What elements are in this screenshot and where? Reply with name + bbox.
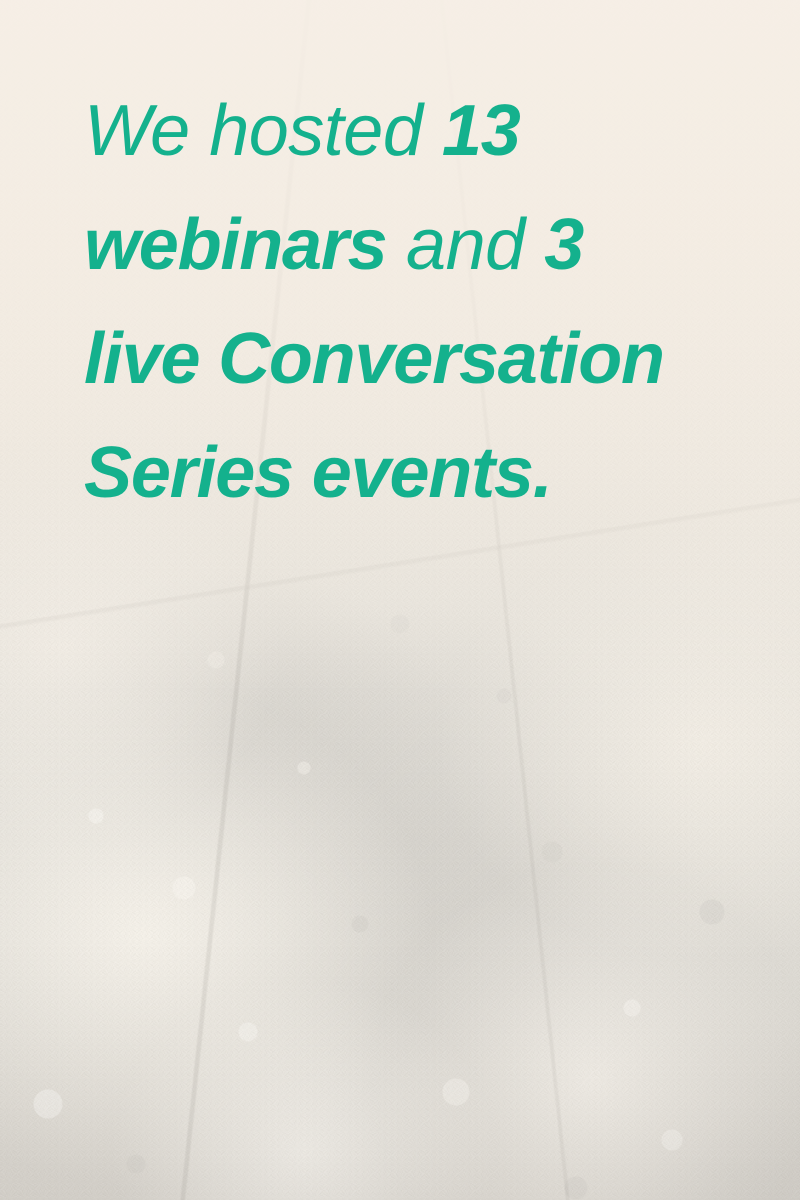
headline-stat-webinar-count: 13 (442, 91, 520, 171)
headline-conjunction-and: and (406, 205, 544, 285)
headline-segment-intro: We hosted (84, 91, 442, 171)
headline-space-2 (387, 205, 407, 285)
headline-statement: We hosted 13 webinars and 3 live Convers… (84, 74, 704, 530)
poster-canvas: We hosted 13 webinars and 3 live Convers… (0, 0, 800, 1200)
headline-label-webinars: webinars (84, 205, 387, 285)
